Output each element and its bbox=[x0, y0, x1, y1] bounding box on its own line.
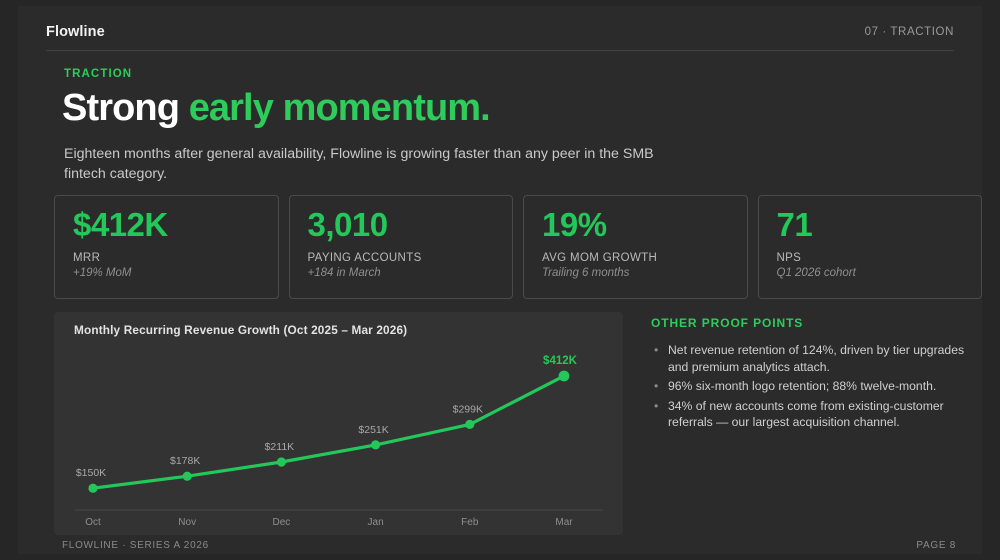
kpi-card-paying-accounts: 3,010 PAYING ACCOUNTS +184 in March bbox=[289, 195, 514, 299]
kpi-sublabel: +184 in March bbox=[308, 267, 513, 279]
proof-points-title: OTHER PROOF POINTS bbox=[651, 316, 971, 330]
data-point-label: $251K bbox=[358, 424, 388, 436]
kpi-sublabel: Q1 2026 cohort bbox=[777, 267, 982, 279]
kpi-card-avg-mom-growth: 19% AVG MOM GROWTH Trailing 6 months bbox=[523, 195, 748, 299]
list-item: •96% six-month logo retention; 88% twelv… bbox=[651, 378, 971, 395]
kpi-sublabel: Trailing 6 months bbox=[542, 267, 747, 279]
eyebrow-label: TRACTION bbox=[64, 68, 132, 80]
data-point-label: $412K bbox=[543, 355, 578, 367]
kpi-value: $412K bbox=[73, 208, 278, 243]
data-point-label: $150K bbox=[76, 467, 106, 479]
data-point-label: $211K bbox=[265, 441, 295, 453]
kpi-label: NPS bbox=[777, 252, 982, 264]
subheadline: Eighteen months after general availabili… bbox=[64, 144, 664, 184]
bullet-icon: • bbox=[654, 398, 658, 415]
kpi-value: 71 bbox=[777, 208, 982, 243]
slide-footer: FLOWLINE · SERIES A 2026 PAGE 8 bbox=[62, 540, 956, 551]
bullet-icon: • bbox=[654, 378, 658, 395]
page-number: PAGE 8 bbox=[916, 540, 956, 551]
kpi-card-nps: 71 NPS Q1 2026 cohort bbox=[758, 195, 983, 299]
list-item: •Net revenue retention of 124%, driven b… bbox=[651, 342, 971, 375]
list-item-text: 34% of new accounts come from existing-c… bbox=[668, 399, 944, 430]
x-axis-tick-label: Nov bbox=[178, 517, 196, 528]
list-item: •34% of new accounts come from existing-… bbox=[651, 398, 971, 431]
x-axis-tick-label: Oct bbox=[85, 517, 101, 528]
x-axis-tick-label: Mar bbox=[555, 517, 573, 528]
list-item-text: Net revenue retention of 124%, driven by… bbox=[668, 343, 964, 374]
slide-header: Flowline 07 · TRACTION bbox=[46, 14, 954, 51]
data-point-label: $299K bbox=[453, 403, 483, 415]
kpi-label: PAYING ACCOUNTS bbox=[308, 252, 513, 264]
other-proof-points: OTHER PROOF POINTS •Net revenue retentio… bbox=[651, 316, 971, 434]
footer-left-text: FLOWLINE · SERIES A 2026 bbox=[62, 540, 209, 551]
data-point bbox=[559, 371, 570, 382]
kpi-value: 19% bbox=[542, 208, 747, 243]
x-axis-tick-label: Feb bbox=[461, 517, 479, 528]
bullet-icon: • bbox=[654, 342, 658, 359]
kpi-value: 3,010 bbox=[308, 208, 513, 243]
proof-points-list: •Net revenue retention of 124%, driven b… bbox=[651, 342, 971, 431]
slide: Flowline 07 · TRACTION TRACTION Strong e… bbox=[18, 6, 982, 554]
section-marker: 07 · TRACTION bbox=[865, 26, 954, 38]
kpi-sublabel: +19% MoM bbox=[73, 267, 278, 279]
x-axis-tick-label: Dec bbox=[273, 517, 291, 528]
mrr-growth-chart-card: Monthly Recurring Revenue Growth (Oct 20… bbox=[54, 312, 623, 535]
data-point bbox=[88, 484, 97, 493]
data-point-label: $178K bbox=[170, 455, 200, 467]
data-point bbox=[465, 420, 474, 429]
data-point bbox=[371, 440, 380, 449]
kpi-row: $412K MRR +19% MoM 3,010 PAYING ACCOUNTS… bbox=[54, 195, 982, 299]
data-point bbox=[183, 472, 192, 481]
data-point bbox=[277, 457, 286, 466]
brand-title: Flowline bbox=[46, 24, 105, 40]
kpi-label: AVG MOM GROWTH bbox=[542, 252, 747, 264]
kpi-label: MRR bbox=[73, 252, 278, 264]
page-title: Strong early momentum. bbox=[62, 86, 490, 131]
x-axis-tick-label: Jan bbox=[368, 517, 384, 528]
kpi-card-mrr: $412K MRR +19% MoM bbox=[54, 195, 279, 299]
mrr-line-chart: $150K$178K$211K$251K$299K$412K OctNovDec… bbox=[54, 312, 623, 535]
headline-plain: Strong bbox=[62, 87, 189, 129]
headline-accent: early momentum. bbox=[189, 87, 490, 129]
list-item-text: 96% six-month logo retention; 88% twelve… bbox=[668, 379, 936, 393]
